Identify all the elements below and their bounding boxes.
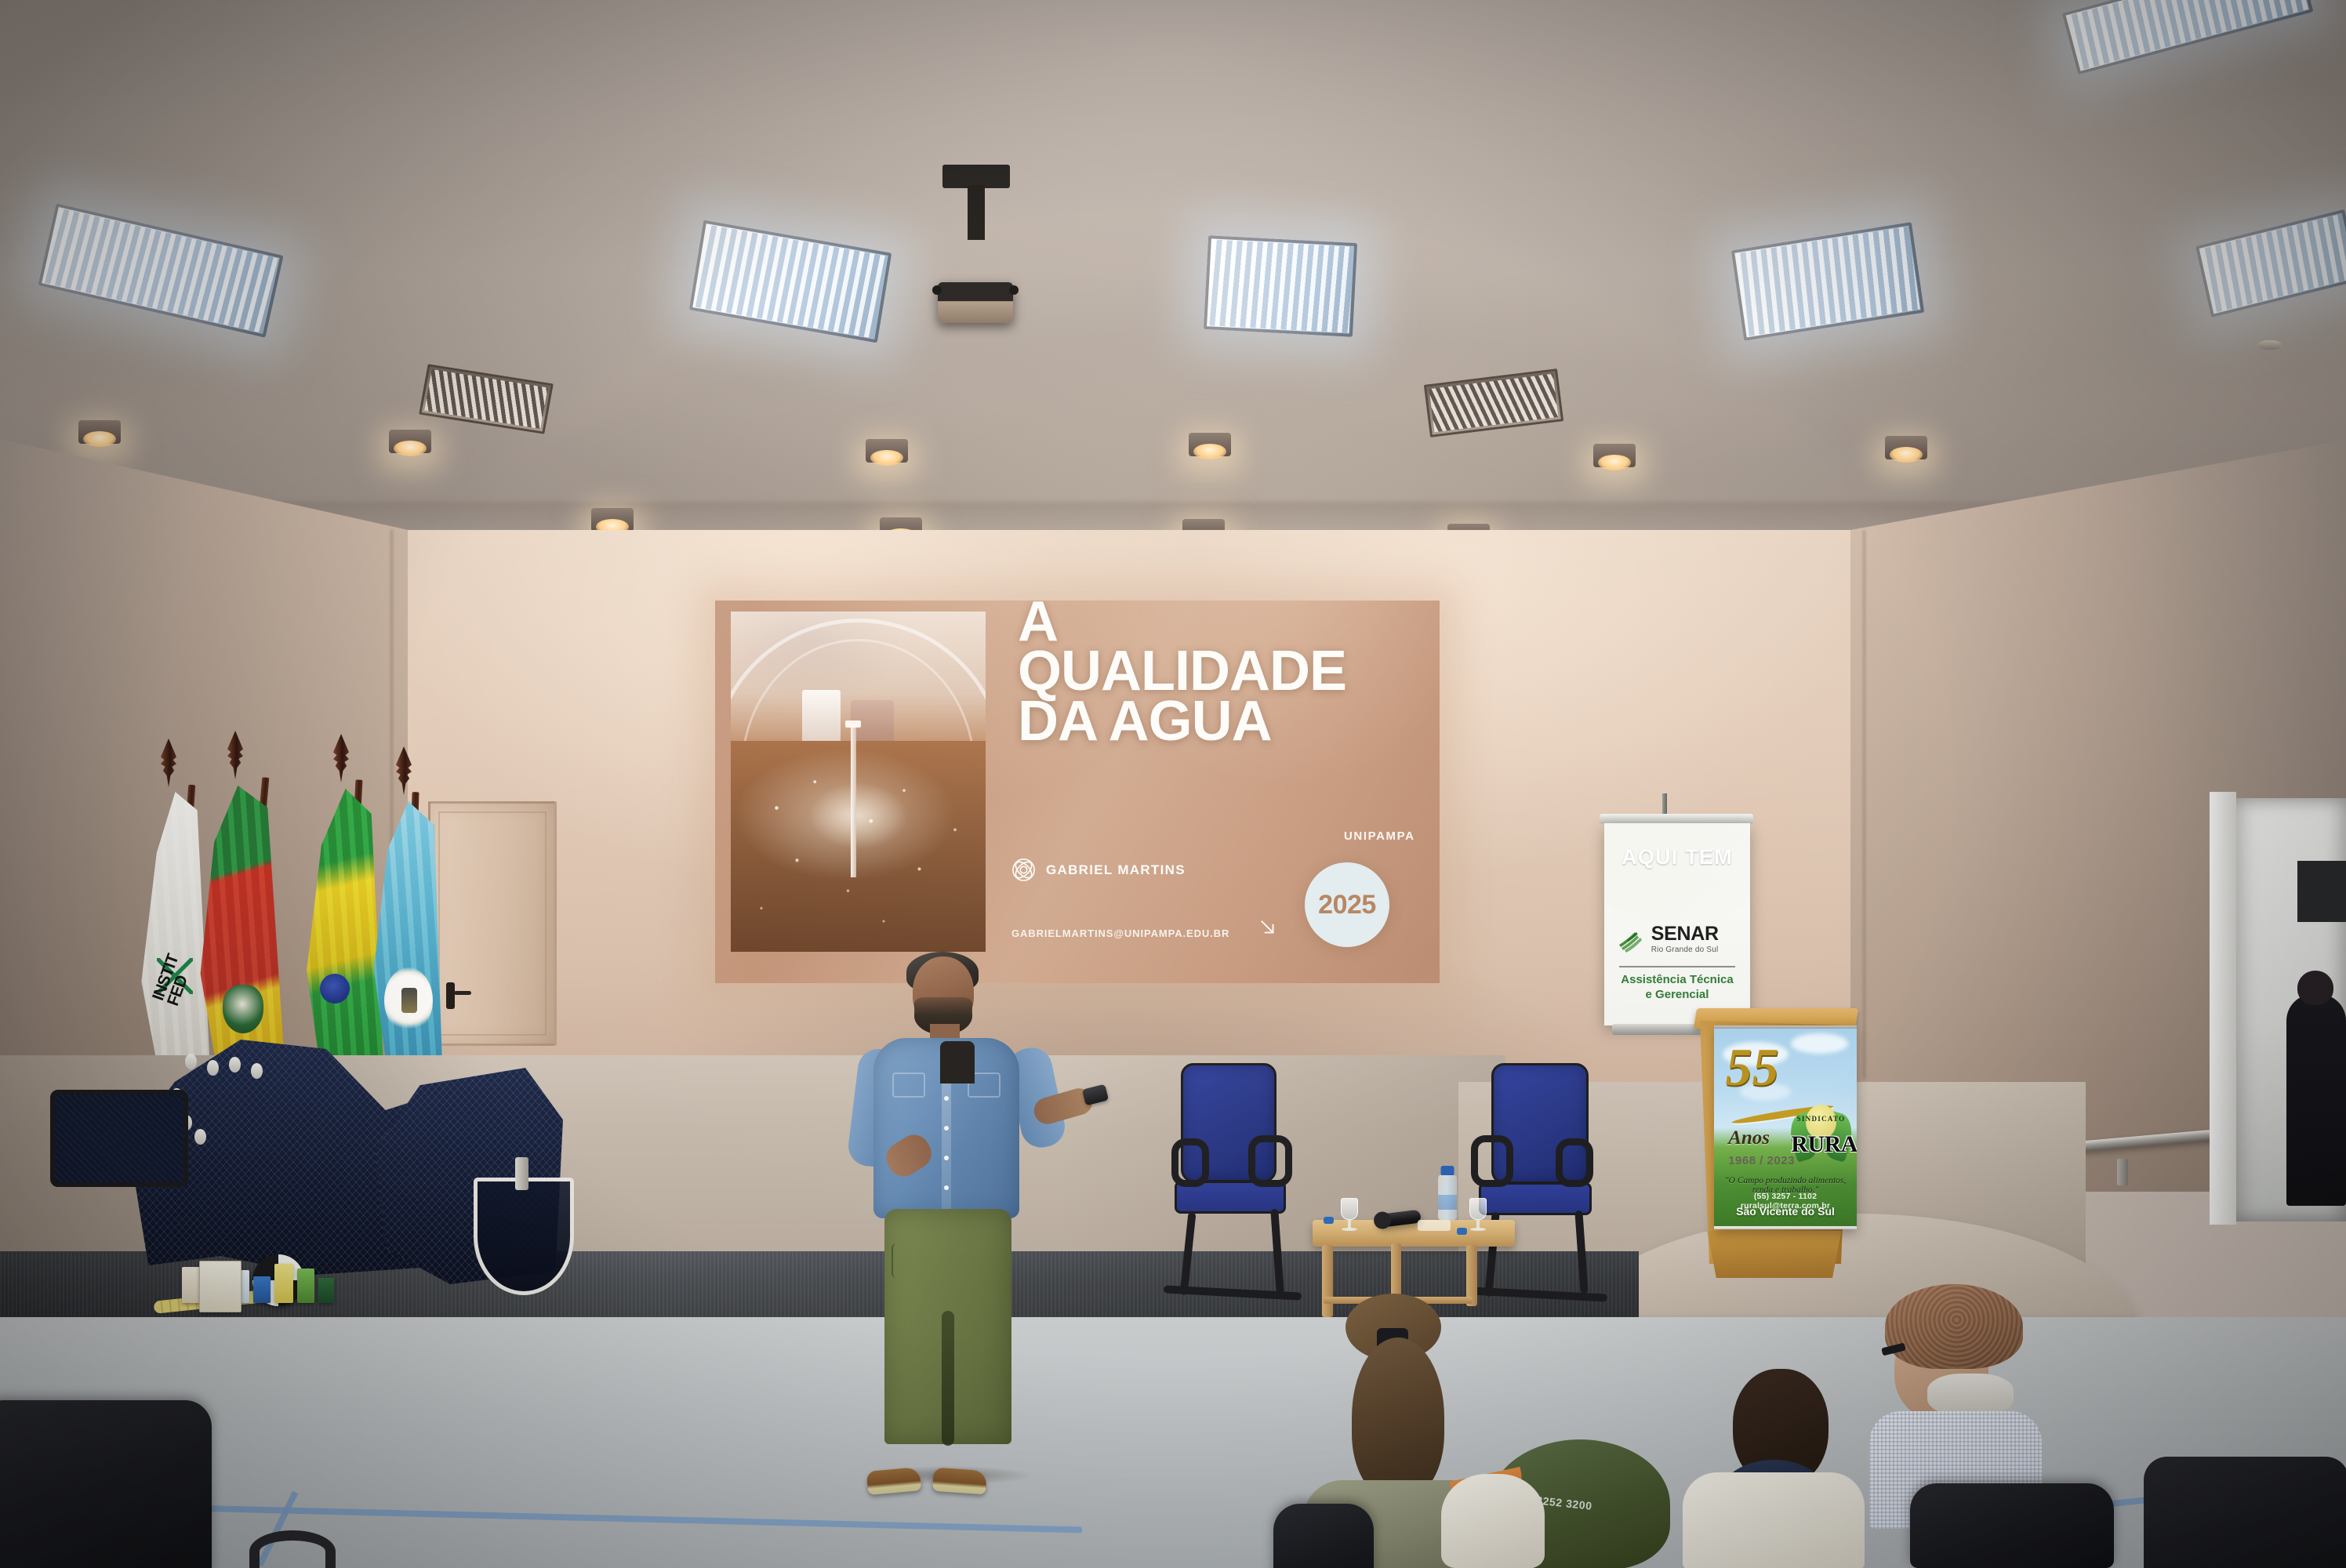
attendee-white-hood (1441, 1474, 1545, 1568)
slide-email: GABRIELMARTINS@UNIPAMPA.EDU.BR (1011, 927, 1229, 939)
projector-pole (968, 185, 985, 240)
arrow-down-right-icon (1258, 917, 1278, 938)
audience-chair[interactable] (0, 1400, 212, 1568)
attendee-hair (1927, 1374, 2014, 1416)
test-kit-box (253, 1276, 271, 1303)
ceiling (0, 0, 2346, 564)
senar-divider (1619, 966, 1736, 967)
senar-tagline-line-2: e Gerencial (1604, 988, 1750, 1003)
chair-skid (1179, 1212, 1196, 1295)
wall-corner-right (1863, 530, 1865, 1079)
senar-brand: SENAR (1651, 924, 1719, 944)
test-kit-box (274, 1264, 293, 1303)
slide-author-row: GABRIEL MARTINS (1011, 858, 1186, 882)
sindicato-rural-emblem-icon: SINDICATO RURAL (1791, 1105, 1850, 1166)
audience-chair-far-right[interactable] (2144, 1457, 2346, 1568)
anniversary-number: 55 (1726, 1046, 1814, 1088)
bottle-cap (1457, 1228, 1467, 1235)
drinking-glass[interactable] (1341, 1198, 1358, 1220)
standing-person-black-shirt (2286, 994, 2346, 1206)
senar-arc-graphic (1604, 823, 1750, 918)
doorway-jamb (2210, 792, 2236, 1225)
test-kit-box-front (199, 1261, 241, 1312)
square-dip-net (50, 1090, 188, 1187)
senar-tagline-line-1: Assistência Técnica (1604, 973, 1750, 988)
ceiling-light-troffer (1204, 235, 1357, 337)
net-float (207, 1060, 219, 1076)
chair-arm (1556, 1138, 1593, 1187)
ceiling-spot-light (1593, 444, 1636, 467)
net-float (229, 1057, 241, 1073)
ceiling-spot-light (1189, 433, 1231, 456)
right-open-doorway[interactable] (2228, 798, 2346, 1221)
banner-city: São Vicente do Sul (1714, 1205, 1857, 1218)
rs-coat-of-arms-icon (223, 985, 263, 1033)
blue-conference-chair-left[interactable] (1167, 1063, 1324, 1298)
audience-chair[interactable] (1910, 1483, 2114, 1568)
dip-net-handle (515, 1157, 528, 1190)
chair-arm (1171, 1138, 1209, 1187)
audience-chair[interactable] (1273, 1504, 1374, 1568)
chair-skid (1574, 1210, 1588, 1294)
projected-slide: A QUALIDADE DA AGUA UNIPAMPA GABRIEL MAR… (715, 601, 1440, 983)
chair-skid (1270, 1209, 1284, 1294)
slide-institution: UNIPAMPA (1344, 829, 1415, 843)
presenter-shoe-left (866, 1467, 921, 1495)
left-wall-door[interactable] (428, 801, 557, 1046)
emblem-main-text: RURAL (1791, 1131, 1850, 1158)
plastic-bag (1418, 1220, 1451, 1231)
senar-roll-up-banner: AQUI TEM SENAR Rio Grande do Sul (1604, 823, 1750, 1025)
banner-rail-top (1714, 1025, 1857, 1029)
ceiling-spot-light (591, 508, 634, 532)
equipment-display (61, 1040, 563, 1298)
hand-dip-net (474, 1178, 574, 1295)
lecture-hall-photo: A QUALIDADE DA AGUA UNIPAMPA GABRIEL MAR… (0, 0, 2346, 1568)
presenter-cargo-pants (884, 1209, 1011, 1444)
presenter-tshirt (940, 1041, 975, 1083)
water-bottle[interactable] (1438, 1174, 1457, 1220)
senar-headline: AQUI TEM (1604, 845, 1750, 869)
municipal-emblem-core (401, 988, 417, 1013)
ceiling-spot-light (866, 439, 908, 463)
slide-photo (731, 612, 986, 952)
slide-title: A QUALIDADE DA AGUA (1018, 601, 1425, 746)
table-top (1313, 1220, 1515, 1247)
net-float (251, 1063, 263, 1079)
ceiling-spot-light (389, 430, 431, 453)
handrail-bracket (2117, 1159, 2128, 1185)
sindicato-rural-banner: 55 Anos 1968 / 2023 SINDICATO RURAL "O C… (1714, 1025, 1857, 1229)
test-kit-box (297, 1269, 314, 1303)
slide-year: 2025 (1318, 890, 1376, 920)
slide-title-line-3: DA AGUA (1018, 697, 1425, 746)
senar-tagline: Assistência Técnica e Gerencial (1604, 973, 1750, 1003)
chair-arm (1471, 1135, 1513, 1187)
ceiling-spot-light (1885, 436, 1927, 459)
emblem-top-text: SINDICATO (1791, 1115, 1850, 1123)
drinking-glass[interactable] (1469, 1198, 1487, 1220)
doorway-dark-panel (2297, 861, 2346, 922)
brazil-globe-icon (320, 974, 350, 1004)
bottle-cap (1324, 1217, 1334, 1224)
anniversary-anos-label: Anos (1728, 1127, 1770, 1149)
anniversary-years: 1968 / 2023 (1728, 1154, 1795, 1167)
slide-year-circle: 2025 (1305, 862, 1389, 947)
rosette-logo-icon (1011, 858, 1036, 882)
senar-brand-sub: Rio Grande do Sul (1651, 946, 1719, 954)
lectern-base (1698, 1231, 1847, 1278)
slide-author-name: GABRIEL MARTINS (1046, 862, 1186, 878)
banner-rail-bottom (1714, 1226, 1857, 1229)
ceiling-projector (938, 282, 1013, 323)
net-float (194, 1129, 206, 1145)
table-leg (1391, 1243, 1401, 1300)
senar-logo-row: SENAR Rio Grande do Sul (1618, 924, 1719, 954)
chair-arm (1248, 1135, 1292, 1187)
presenter (852, 956, 1063, 1490)
attendee-sweater (1683, 1472, 1865, 1568)
audience-chair-frame (249, 1530, 336, 1568)
net-float (185, 1054, 197, 1069)
wheat-icon (1618, 926, 1646, 953)
presenter-shoe-right (932, 1468, 987, 1495)
ceiling-spot-light (78, 420, 121, 444)
flat-cap (1885, 1284, 2023, 1369)
test-kit-box (318, 1278, 334, 1303)
attendee-hair (1352, 1338, 1444, 1497)
smoke-detector (2258, 340, 2282, 350)
attendee-elder-flatcap (1860, 1278, 2079, 1537)
